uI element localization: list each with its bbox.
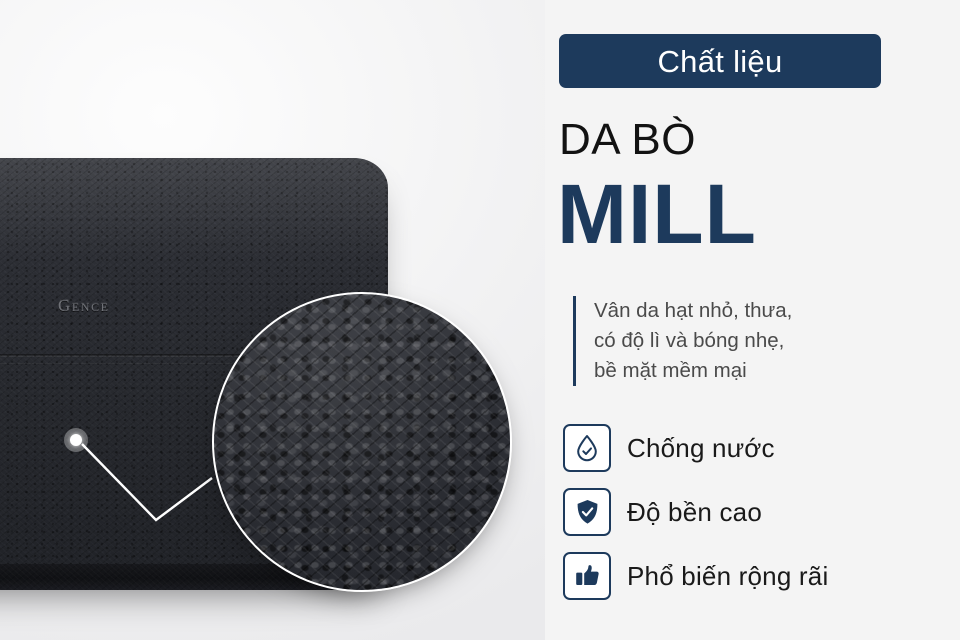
marker-core-dot [70, 434, 82, 446]
description-line-3: bề mặt mềm mại [594, 356, 792, 386]
product-photo-panel: Gence [0, 0, 545, 640]
brand-logo-emboss: Gence [58, 296, 110, 316]
feature-label-popularity: Phổ biến rộng rãi [627, 563, 828, 589]
thumbs-up-icon-box [563, 552, 611, 600]
headline-secondary: DA BÒ [559, 118, 696, 162]
description-line-2: có độ lì và bóng nhẹ, [594, 326, 792, 356]
feature-label-durability: Độ bền cao [627, 499, 762, 525]
feature-item-popularity: Phổ biến rộng rãi [563, 552, 828, 600]
promo-banner: Gence Chất liệu DA BÒ MILL Vân da hạt nh… [0, 0, 960, 640]
feature-label-water-resistant: Chống nước [627, 435, 775, 461]
texture-sample-point-marker [64, 428, 88, 452]
water-drop-check-icon-box [563, 424, 611, 472]
feature-item-durability: Độ bền cao [563, 488, 828, 536]
material-badge: Chất liệu [559, 34, 881, 88]
feature-item-water-resistant: Chống nước [563, 424, 828, 472]
leather-grain-zoom-circle [212, 292, 512, 592]
info-panel: Chất liệu DA BÒ MILL Vân da hạt nhỏ, thư… [545, 0, 960, 640]
water-drop-check-icon [574, 434, 600, 462]
shield-check-icon-box [563, 488, 611, 536]
material-badge-label: Chất liệu [657, 46, 782, 77]
material-description: Vân da hạt nhỏ, thưa, có độ lì và bóng n… [573, 296, 792, 386]
thumbs-up-icon [574, 563, 601, 589]
headline-primary: MILL [557, 172, 757, 256]
bag-highlight [0, 158, 388, 278]
feature-list: Chống nước Độ bền cao [563, 424, 828, 600]
shield-check-icon [574, 498, 601, 526]
description-line-1: Vân da hạt nhỏ, thưa, [594, 296, 792, 326]
